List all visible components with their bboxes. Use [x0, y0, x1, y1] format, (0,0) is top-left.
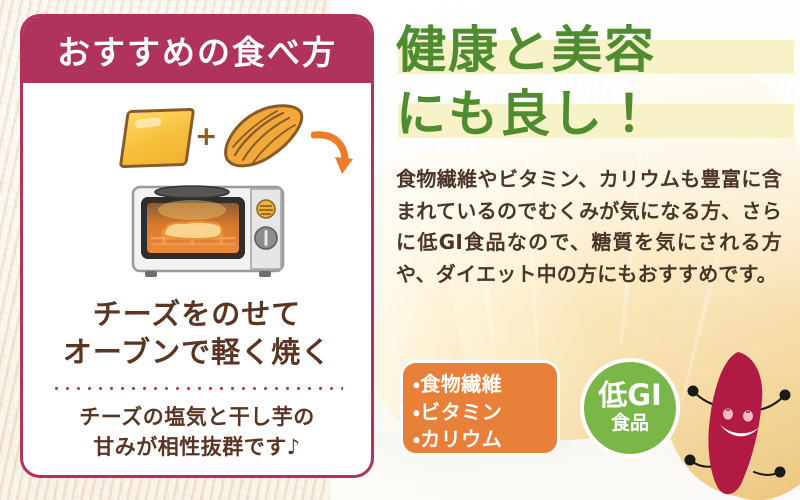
plus-icon: + — [195, 123, 218, 150]
list-item: ・ビタミン — [413, 399, 557, 427]
card-body: + — [23, 83, 371, 475]
low-gi-badge-subtitle: 食品 — [611, 412, 649, 435]
toaster-oven-icon — [129, 175, 287, 285]
recommended-recipe-card: おすすめの食べ方 + — [20, 14, 374, 478]
poster-canvas: おすすめの食べ方 + — [0, 0, 800, 500]
card-main-text-line2: オーブンで軽く焼く — [23, 333, 371, 371]
dotted-divider — [51, 387, 343, 390]
headline-line2: にも良し！ — [396, 85, 656, 143]
ingredients-row: + — [23, 99, 371, 175]
card-main-text: チーズをのせて オーブンで軽く焼く — [23, 295, 371, 372]
cheese-slice-icon — [119, 108, 196, 168]
description-paragraph: 食物繊維やビタミン、カリウムも豊富に含まれているのでむくみが気になる方、さらに低… — [396, 164, 782, 290]
low-gi-badge-title: 低GI — [598, 381, 662, 410]
card-sub-text-line2: 甘みが相性抜群です♪ — [23, 433, 371, 463]
nutrient-list-box: ・食物繊維 ・ビタミン ・カリウム — [400, 360, 560, 456]
list-item: ・食物繊維 — [413, 371, 557, 399]
headline-line1-wrap: 健康と美容 — [396, 18, 800, 82]
card-sub-text-line1: チーズの塩気と干し芋の — [23, 403, 371, 433]
card-sub-text: チーズの塩気と干し芋の 甘みが相性抜群です♪ — [23, 403, 371, 463]
headline-line2-wrap: にも良し！ — [396, 82, 800, 146]
card-header: おすすめの食べ方 — [23, 17, 371, 83]
headline: 健康と美容 にも良し！ — [396, 18, 800, 146]
sweet-potato-mascot-icon — [676, 348, 796, 498]
low-gi-badge: 低GI 食品 — [580, 358, 680, 458]
headline-line1: 健康と美容 — [396, 21, 656, 79]
nutrient-list: ・食物繊維 ・ビタミン ・カリウム — [413, 371, 557, 454]
dried-sweet-potato-icon — [219, 103, 305, 169]
curved-arrow-icon — [311, 129, 353, 175]
card-header-title: おすすめの食べ方 — [57, 26, 337, 74]
card-main-text-line1: チーズをのせて — [23, 295, 371, 333]
list-item: ・カリウム — [413, 426, 557, 454]
